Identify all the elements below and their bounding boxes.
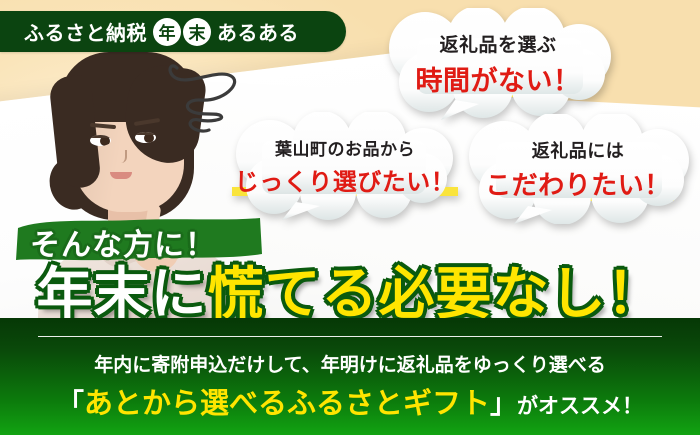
bubble-3-line2: こだわりたい！ [485, 165, 671, 202]
footer-line2: 「あとから選べるふるさとギフト」がオススメ！ [0, 380, 700, 422]
bubble-2-line2: じっくり選びたい！ [235, 162, 456, 197]
nose [116, 150, 127, 163]
bubble-time: 返礼品を選ぶ 時間がない！ [383, 8, 613, 120]
bubble-3-line1: 返礼品には [532, 137, 625, 163]
footer-suffix: がオススメ！ [517, 395, 643, 418]
header-text-after: あるある [217, 17, 299, 46]
header-text-before: ふるさと納税 [24, 17, 147, 46]
mouth [110, 172, 132, 179]
bubble-1-line1: 返礼品を選ぶ [439, 30, 556, 57]
header-title-pill: ふるさと納税 年 末 あるある [0, 11, 346, 52]
bubble-1-line2: 時間がない！ [416, 59, 581, 98]
headline: 年末に慌てる必要なし！ [0, 250, 700, 328]
promo-banner: ふるさと納税 年 末 あるある 返礼品を選ぶ 時間が [0, 0, 700, 435]
bubble-quality: 返礼品には こだわりたい！ [462, 114, 694, 224]
eye-right [135, 132, 156, 143]
header-circles: 年 末 [153, 18, 211, 46]
header-circle-2: 末 [183, 18, 211, 46]
footer-panel: 年内に寄附申込だけして、年明けに返礼品をゆっくり選べる 「あとから選べるふるさと… [0, 318, 700, 435]
footer-separator [38, 336, 662, 337]
footer-quote-open: 「 [57, 389, 84, 419]
header-circle-1: 年 [153, 18, 181, 46]
footer-brand: あとから選べるふるさとギフト [84, 388, 490, 420]
eye-left [90, 135, 111, 146]
bubble-choose: 葉山町のお品から じっくり選びたい！ [230, 112, 460, 220]
footer-quote-close: 」 [490, 389, 517, 419]
footer-line1: 年内に寄附申込だけして、年明けに返礼品をゆっくり選べる [0, 350, 700, 377]
bubble-2-line1: 葉山町のお品から [275, 135, 415, 160]
